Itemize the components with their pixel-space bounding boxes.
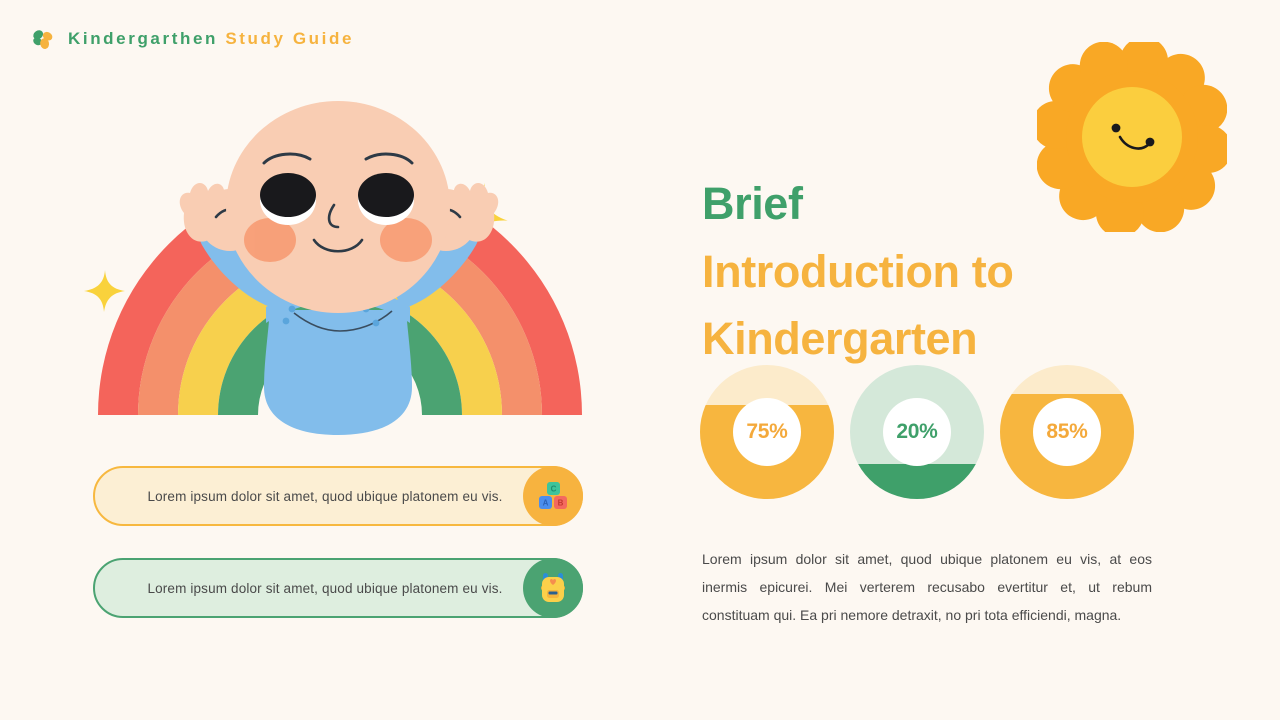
info-card-2-text: Lorem ipsum dolor sit amet, quod ubique … xyxy=(95,581,581,596)
svg-text:B: B xyxy=(558,499,564,508)
brand-header: Kindergarthen Study Guide xyxy=(30,26,354,52)
chart-metric-2-fill xyxy=(850,464,984,499)
sparkle-star-left xyxy=(84,270,125,312)
brand-title: Kindergarthen Study Guide xyxy=(68,29,354,49)
info-card-1-text: Lorem ipsum dolor sit amet, quod ubique … xyxy=(95,489,581,504)
chart-metric-3-center: 85% xyxy=(1033,398,1101,466)
page-title: Brief Introduction to Kindergarten xyxy=(702,170,1172,373)
info-card-1[interactable]: Lorem ipsum dolor sit amet, quod ubique … xyxy=(93,466,583,526)
baby-head xyxy=(226,101,450,313)
chart-metric-1: 75% xyxy=(700,365,834,499)
body-paragraph: Lorem ipsum dolor sit amet, quod ubique … xyxy=(702,545,1152,629)
svg-text:A: A xyxy=(543,499,549,508)
percentage-charts: 75% 20% 85% xyxy=(700,365,1134,499)
page-title-line-2: Introduction to xyxy=(702,238,1172,306)
brand-name: Kindergarthen xyxy=(68,29,218,48)
four-petal-flower-icon xyxy=(30,26,56,52)
backpack-icon xyxy=(523,558,583,618)
chart-metric-2: 20% xyxy=(850,365,984,499)
chart-metric-1-center: 75% xyxy=(733,398,801,466)
chart-metric-3-label: 85% xyxy=(1046,420,1087,444)
chart-metric-2-center: 20% xyxy=(883,398,951,466)
brand-subtitle: Study Guide xyxy=(225,29,354,48)
svg-text:C: C xyxy=(551,485,557,494)
page-title-line-1: Brief xyxy=(702,170,1172,238)
sun-eye-left xyxy=(1112,124,1121,133)
baby-with-rainbow-illustration xyxy=(80,95,600,435)
chart-metric-1-label: 75% xyxy=(746,420,787,444)
info-card-2[interactable]: Lorem ipsum dolor sit amet, quod ubique … xyxy=(93,558,583,618)
page-title-line-3: Kindergarten xyxy=(702,305,1172,373)
chart-metric-3: 85% xyxy=(1000,365,1134,499)
baby-body xyxy=(264,310,412,435)
chart-metric-2-label: 20% xyxy=(896,420,937,444)
abc-blocks-icon: C A B xyxy=(523,466,583,526)
